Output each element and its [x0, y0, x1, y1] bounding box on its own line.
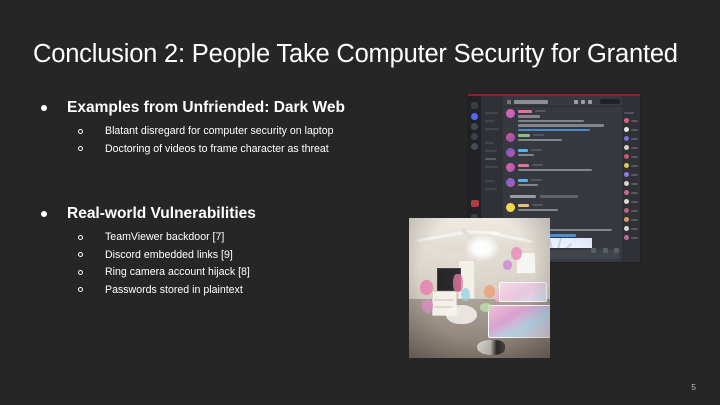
- circle-bullet-icon: [78, 235, 83, 240]
- page-title: Conclusion 2: People Take Computer Secur…: [33, 40, 693, 69]
- bullet-level2-item: Blatant disregard for computer security …: [33, 123, 453, 141]
- message-text: [518, 124, 604, 127]
- bullet-level2-item: Discord embedded links [9]: [33, 247, 453, 265]
- floor-toy: [480, 303, 493, 311]
- circle-bullet-icon: [78, 252, 83, 257]
- wall-decal: [503, 260, 511, 270]
- avatar: [506, 163, 515, 172]
- bullet-level2-label: Blatant disregard for computer security …: [105, 125, 333, 137]
- message-timestamp: [531, 149, 542, 151]
- ring-camera-photo: [409, 218, 550, 358]
- avatar: [506, 178, 515, 187]
- close-icon[interactable]: [614, 248, 619, 253]
- disc-bullet-icon: [41, 211, 47, 217]
- message-text: [518, 154, 534, 157]
- bullet-level1-vulnerabilities: Real-world Vulnerabilities: [33, 204, 453, 223]
- circle-bullet-icon: [78, 146, 83, 151]
- discord-search-input[interactable]: [600, 99, 620, 104]
- page-number: 5: [691, 382, 696, 392]
- discord-channel-header: [503, 96, 622, 107]
- message-timestamp: [531, 179, 542, 181]
- slide: Conclusion 2: People Take Computer Secur…: [0, 0, 720, 405]
- message-author: [518, 204, 529, 207]
- discord-member-list: [622, 96, 640, 262]
- circle-bullet-icon: [78, 287, 83, 292]
- ceiling-light-glow: [465, 235, 499, 261]
- message-text: [518, 139, 562, 142]
- message-author: [518, 149, 528, 152]
- circle-bullet-icon: [78, 129, 83, 134]
- message-author: [518, 134, 530, 137]
- avatar: [506, 203, 515, 212]
- message-timestamp: [535, 110, 546, 112]
- message-text: [518, 169, 592, 172]
- members-icon[interactable]: [588, 100, 592, 104]
- message-timestamp: [532, 164, 543, 166]
- bullet-level1-label: Real-world Vulnerabilities: [67, 205, 256, 222]
- toy-item: [420, 280, 433, 295]
- disc-bullet-icon: [41, 105, 47, 111]
- bullet-level2-label: TeamViewer backdoor [7]: [105, 231, 224, 243]
- bullet-level2-item: Passwords stored in plaintext: [33, 282, 453, 300]
- bullet-level2-label: Discord embedded links [9]: [105, 249, 233, 261]
- slide-body: Examples from Unfriended: Dark Web Blata…: [33, 98, 453, 299]
- message-timestamp: [532, 204, 543, 206]
- floor-rug: [446, 305, 477, 325]
- bullet-level2-label: Ring camera account hijack [8]: [105, 266, 250, 278]
- toy-item: [461, 288, 469, 301]
- circle-bullet-icon: [78, 270, 83, 275]
- bullet-level2-label: Passwords stored in plaintext: [105, 284, 243, 296]
- discord-channel-name: [514, 100, 548, 104]
- message-author: [518, 164, 529, 167]
- maximize-icon[interactable]: [603, 248, 608, 253]
- bullet-group-examples: Examples from Unfriended: Dark Web Blata…: [33, 98, 453, 158]
- system-text: [540, 195, 578, 198]
- system-text: [510, 195, 536, 198]
- pin-icon[interactable]: [581, 100, 585, 104]
- wall-decal: [511, 247, 522, 260]
- bullet-level2-item: Ring camera account hijack [8]: [33, 264, 453, 282]
- bullet-level1-label: Examples from Unfriended: Dark Web: [67, 99, 345, 116]
- message-text: [518, 115, 540, 118]
- bell-icon[interactable]: [574, 100, 578, 104]
- message-author: [518, 110, 532, 113]
- message-link: [518, 129, 590, 132]
- message-text: [518, 184, 538, 187]
- message-text: [518, 209, 558, 212]
- bullet-group-vulnerabilities: Real-world Vulnerabilities TeamViewer ba…: [33, 204, 453, 299]
- bed-lower: [488, 305, 550, 339]
- minimize-icon[interactable]: [591, 248, 596, 253]
- bullet-level1-examples: Examples from Unfriended: Dark Web: [33, 98, 453, 117]
- bed-upper: [499, 282, 547, 302]
- bullet-level2-item: Doctoring of videos to frame character a…: [33, 141, 453, 159]
- hash-icon: [507, 100, 511, 104]
- avatar: [506, 148, 515, 157]
- toy-item: [422, 299, 433, 313]
- avatar: [506, 109, 515, 118]
- avatar: [506, 133, 515, 142]
- dog-on-floor: [477, 340, 505, 355]
- message-text: [518, 120, 584, 123]
- bullet-level2-label: Doctoring of videos to frame character a…: [105, 143, 329, 155]
- message-timestamp: [533, 134, 544, 136]
- discord-window-controls[interactable]: [589, 240, 619, 258]
- message-author: [518, 179, 528, 182]
- bullet-level2-item: TeamViewer backdoor [7]: [33, 229, 453, 247]
